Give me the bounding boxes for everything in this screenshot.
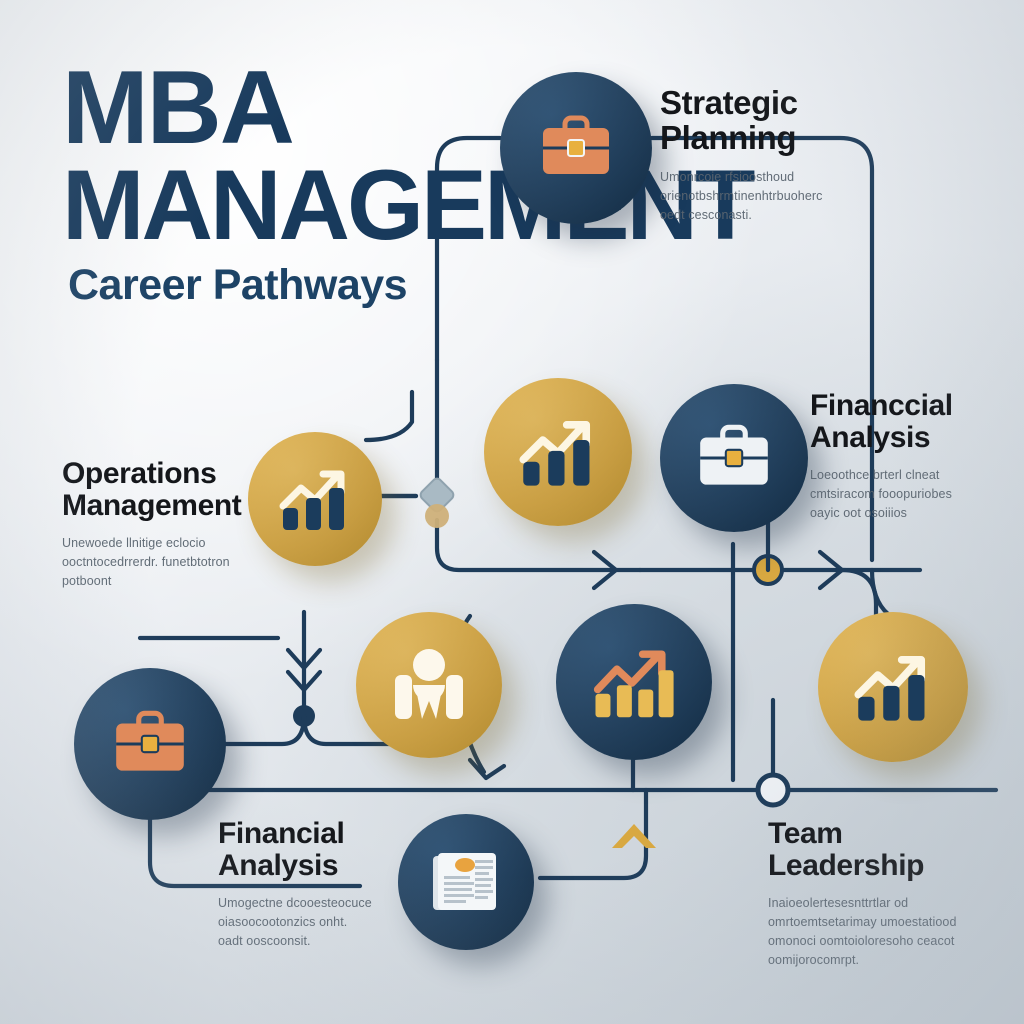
node-strategic-planning[interactable] — [500, 72, 652, 224]
label-title: Financcial Analysis — [810, 390, 1024, 454]
briefcase-icon — [108, 707, 192, 781]
gold-small-junction — [425, 504, 449, 528]
document-icon — [429, 848, 503, 916]
label-body: Inaioeolertesesnttrtlar od omrtoemtsetar… — [768, 894, 1018, 970]
label-strategic-planning: Strategic Planning Umonrcoie rfsioosthou… — [660, 86, 910, 225]
node-financial-briefcase[interactable] — [660, 384, 808, 532]
gold-chevron-marker — [612, 824, 656, 848]
label-body: Umonrcoie rfsioosthoud orienotbshrmtinen… — [660, 168, 910, 225]
node-center-chart[interactable] — [484, 378, 632, 526]
bar-chart-up-icon — [849, 649, 937, 725]
label-title: Strategic Planning — [660, 86, 910, 156]
label-title: Operations Management — [62, 458, 302, 522]
node-leadership-chart[interactable] — [818, 612, 968, 762]
bar-chart-up-icon — [514, 414, 602, 490]
wire-ops-to-stem — [366, 392, 412, 440]
bar-chart-up-icon — [275, 464, 355, 534]
label-team-leadership: Team Leadership Inaioeolertesesnttrtlar … — [768, 818, 1018, 970]
people-group-icon — [386, 645, 472, 725]
node-team-people[interactable] — [356, 612, 502, 758]
label-title: Team Leadership — [768, 818, 1018, 882]
label-body: Unewoede llnitige eclocio ooctntocedrrer… — [62, 534, 302, 591]
briefcase-icon — [535, 112, 617, 184]
page-subtitle: Career Pathways — [68, 261, 892, 310]
label-financial-analysis-right: Financcial Analysis Loeoothce brterl cln… — [810, 390, 1024, 523]
label-financial-analysis-left: Financial Analysis Umogectne dcooesteocu… — [218, 818, 448, 951]
label-operations-management: Operations Management Unewoede llnitige … — [62, 458, 302, 591]
label-body: Loeoothce brterl clneat cmtsiracom fooop… — [810, 466, 1024, 523]
node-financial-briefcase-2[interactable] — [74, 668, 226, 820]
label-title: Financial Analysis — [218, 818, 448, 882]
node-growth-chart[interactable] — [556, 604, 712, 760]
briefcase-icon — [692, 421, 776, 495]
label-body: Umogectne dcooesteocuce oiasoocootonzics… — [218, 894, 448, 951]
open-circle-junction — [758, 775, 788, 805]
bar-chart-up-icon — [588, 642, 680, 722]
infographic-canvas: .w{fill:none;stroke:#1e3c5a;stroke-width… — [0, 0, 1024, 1024]
arrowhead-people-down — [470, 760, 504, 778]
